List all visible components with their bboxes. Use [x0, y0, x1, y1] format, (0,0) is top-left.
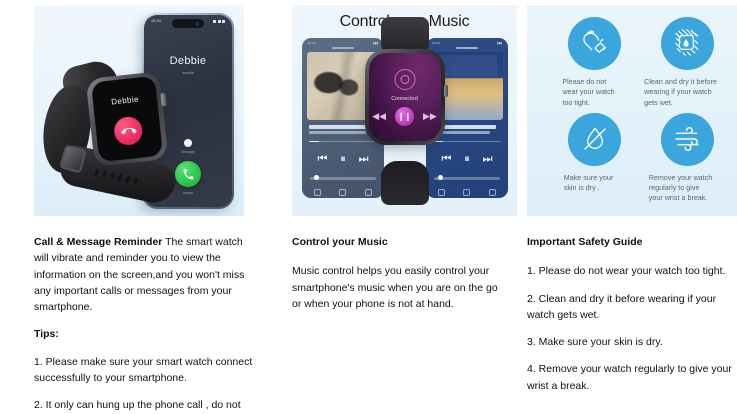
track-title-bar [309, 125, 372, 129]
caption-safety: Important Safety Guide 1. Please do not … [527, 234, 737, 394]
hang-up-button[interactable] [113, 116, 144, 147]
sheet-grabber [456, 47, 478, 49]
phone-hangup-icon [120, 123, 136, 139]
safety-item: Clean and dry it before wearing if your … [634, 17, 727, 113]
feature-column-music: Control your Music 14:16 ▮▮▮ ⏮ [292, 5, 517, 414]
caption-body: Music control helps you easily control y… [292, 263, 507, 312]
previous-icon[interactable]: ⏮ [317, 154, 327, 165]
watch-case: Debbie [86, 71, 169, 166]
safety-list-item: 3. Make sure your skin is dry. [527, 334, 737, 350]
previous-icon[interactable]: ◀◀ [372, 112, 386, 121]
watch-crown-button[interactable] [161, 93, 167, 106]
message-button[interactable] [184, 139, 192, 147]
pause-icon[interactable]: ⏸ [464, 154, 470, 165]
watch-caller-name: Debbie [93, 93, 158, 109]
safety-item-text: Clean and dry it before wearing if your … [644, 77, 717, 108]
wind-breeze-icon [661, 113, 714, 166]
safety-list-item: 2. Clean and dry it before wearing if yo… [527, 291, 737, 324]
product-feature-page: 10:24 Debbie mobile Message [0, 0, 737, 414]
safety-item-text: Make sure your skin is dry . [562, 173, 614, 194]
caption-call-message: Call & Message Reminder The smart watch … [34, 234, 259, 414]
important-safety-guide-image: Please do not wear your watch too tight. [527, 5, 737, 216]
hand-wearing-watch-icon [568, 17, 621, 70]
feature-columns: 10:24 Debbie mobile Message [0, 0, 737, 414]
watch-connection-status: Connected [369, 96, 441, 102]
caption-heading: Control your Music [292, 234, 507, 250]
safety-list-item: 4. Remove your watch regularly to give y… [527, 361, 737, 394]
sheet-grabber [332, 47, 354, 49]
safety-item: Make sure your skin is dry . [541, 113, 634, 209]
phone-handset-icon [182, 168, 195, 181]
watch-screen: Debbie [91, 76, 163, 162]
washing-hand-water-icon [661, 17, 714, 70]
track-artist-bar [309, 131, 366, 134]
lyrics-icon[interactable] [463, 189, 470, 196]
status-time: 14:16 [308, 41, 316, 45]
tip-item: 2. It only can hung up the phone call , … [34, 397, 259, 414]
watch-playback-controls: ◀◀ ❙❙ ▶▶ [369, 107, 441, 126]
status-icons [213, 19, 225, 23]
next-icon[interactable]: ⏭ [483, 154, 493, 165]
caption-heading: Call & Message Reminder [34, 236, 162, 248]
pause-button[interactable]: ❙❙ [395, 107, 414, 126]
control-your-music-image: Control your Music 14:16 ▮▮▮ ⏮ [292, 5, 517, 216]
safety-list-item: 1. Please do not wear your watch too tig… [527, 263, 737, 279]
watch-screen: Connected ◀◀ ❙❙ ▶▶ [369, 53, 441, 141]
safety-item: Remove your watch regularly to give your… [634, 113, 727, 209]
feature-column-call-message: 10:24 Debbie mobile Message [34, 5, 268, 414]
watch-crown-button[interactable] [444, 85, 448, 97]
watch-strap-bottom [381, 161, 429, 205]
tip-item: 1. Please make sure your smart watch con… [34, 354, 259, 387]
pause-icon[interactable]: ⏸ [340, 154, 346, 165]
call-message-reminder-image: 10:24 Debbie mobile Message [34, 5, 244, 216]
no-water-droplet-icon [568, 113, 621, 166]
airplay-icon[interactable] [314, 189, 321, 196]
caption-paragraph: Call & Message Reminder The smart watch … [34, 234, 259, 315]
accept-call-button[interactable] [175, 161, 201, 187]
next-icon[interactable]: ▶▶ [423, 112, 437, 121]
lyrics-icon[interactable] [339, 189, 346, 196]
tips-label: Tips: [34, 326, 259, 342]
smartwatch-incoming-call: Debbie [38, 63, 178, 208]
caption-music: Control your Music Music control helps y… [292, 234, 507, 312]
safety-item-text: Remove your watch regularly to give your… [649, 173, 713, 204]
status-icons: ▮▮▮ [497, 41, 502, 45]
status-time: 10:24 [151, 19, 161, 23]
smartwatch-music-control: Connected ◀◀ ❙❙ ▶▶ [365, 17, 445, 205]
queue-icon[interactable] [489, 189, 496, 196]
bluetooth-music-logo-icon [394, 69, 415, 90]
safety-icon-grid: Please do not wear your watch too tight. [527, 5, 737, 216]
safety-item-text: Please do not wear your watch too tight. [560, 77, 614, 108]
phone-status-bar: 10:24 [144, 19, 232, 23]
feature-column-safety: Please do not wear your watch too tight. [527, 5, 737, 414]
watch-case: Connected ◀◀ ❙❙ ▶▶ [365, 49, 445, 145]
caption-heading: Important Safety Guide [527, 234, 737, 250]
safety-item: Please do not wear your watch too tight. [541, 17, 634, 113]
